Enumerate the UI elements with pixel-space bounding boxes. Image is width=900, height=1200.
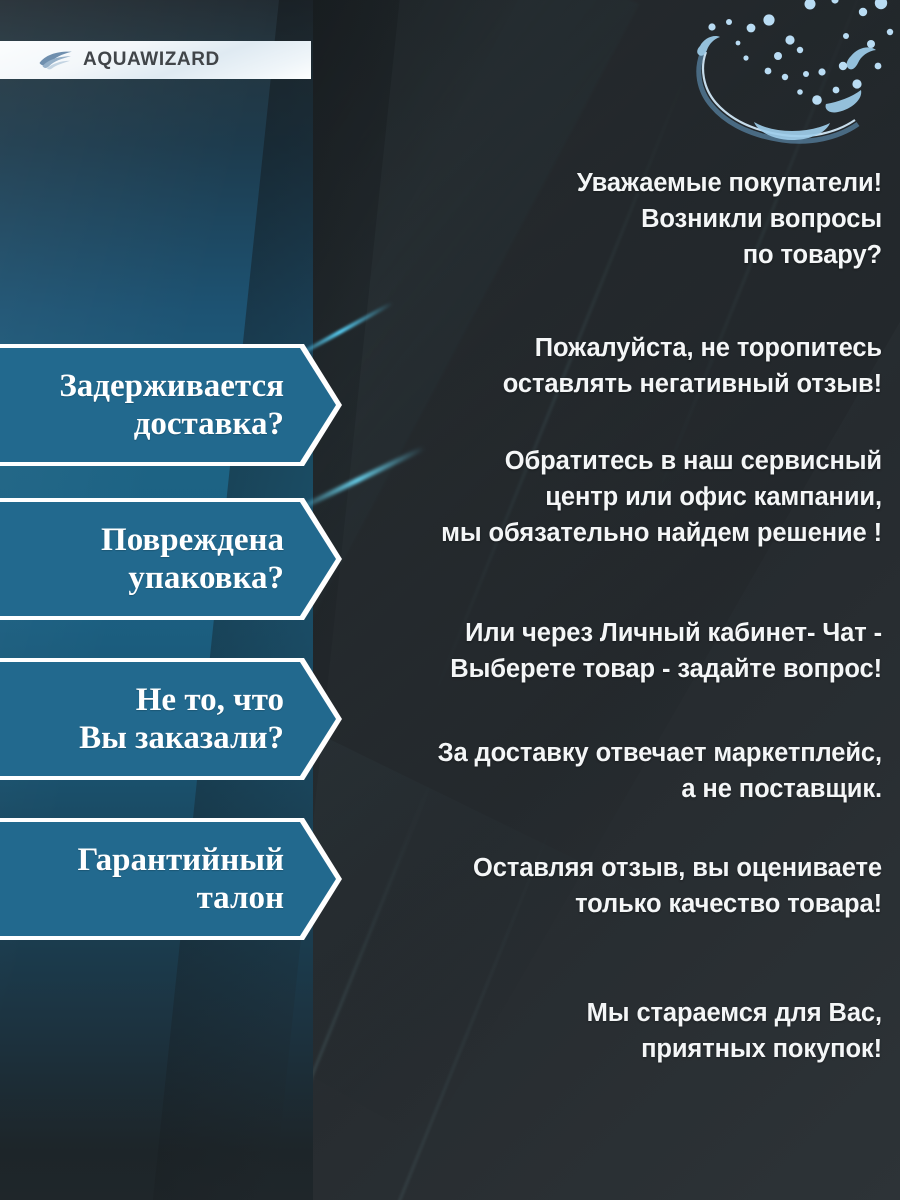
paragraph-contact-service: Обратитесь в наш сервисный центр или офи…: [322, 443, 882, 552]
banner-label: Не то, что Вы заказали?: [79, 681, 284, 758]
brand-name: AQUAWIZARD: [83, 49, 220, 71]
wave-icon: [38, 50, 74, 70]
banner-packaging-damaged-body: Повреждена упаковка?: [0, 502, 336, 616]
banner-wrong-item[interactable]: Не то, что Вы заказали?: [0, 658, 342, 780]
banner-label: Повреждена упаковка?: [101, 521, 284, 598]
paragraph-marketplace-delivery: За доставку отвечает маркетплейс, а не п…: [322, 735, 882, 807]
banner-wrong-item-body: Не то, что Вы заказали?: [0, 662, 336, 776]
paragraph-greeting: Уважаемые покупатели! Возникли вопросы п…: [322, 165, 882, 274]
banner-delivery-delayed-body: Задерживается доставка?: [0, 348, 336, 462]
paragraph-no-negative-review: Пожалуйста, не торопитесь оставлять нега…: [322, 330, 882, 402]
banner-label: Задерживается доставка?: [59, 367, 284, 444]
paragraph-rate-quality: Оставляя отзыв, вы оцениваете только кач…: [322, 850, 882, 922]
banner-label: Гарантийный талон: [78, 841, 285, 918]
banner-warranty-card[interactable]: Гарантийный талон: [0, 818, 342, 940]
paragraph-closing: Мы стараемся для Вас, приятных покупок!: [322, 995, 882, 1067]
brand-logo-bar: AQUAWIZARD: [0, 41, 311, 79]
banner-warranty-card-body: Гарантийный талон: [0, 822, 336, 936]
banner-packaging-damaged[interactable]: Повреждена упаковка?: [0, 498, 342, 620]
paragraph-personal-account-chat: Или через Личный кабинет- Чат - Выберете…: [322, 615, 882, 687]
banner-delivery-delayed[interactable]: Задерживается доставка?: [0, 344, 342, 466]
promo-card: AQUAWIZARD Задерживается доставка? Повре…: [0, 0, 900, 1200]
